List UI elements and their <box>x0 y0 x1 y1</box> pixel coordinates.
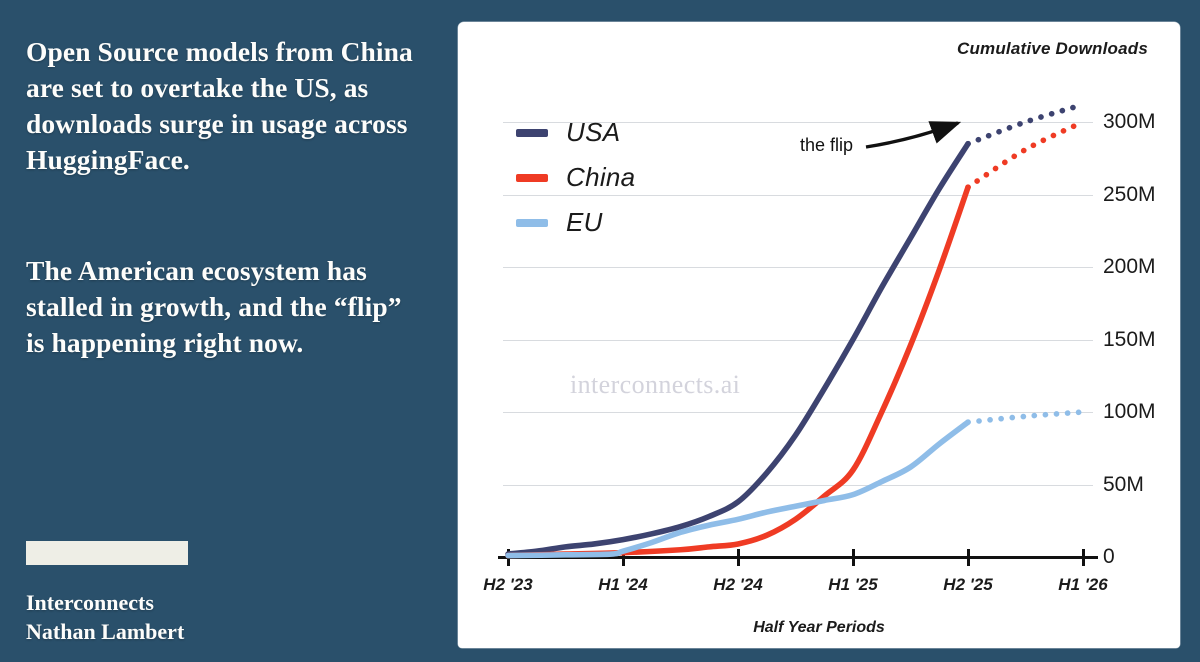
legend-item-eu[interactable]: EU <box>516 200 635 245</box>
legend: USAChinaEU <box>516 110 635 245</box>
legend-label: USA <box>566 117 620 148</box>
legend-label: China <box>566 162 635 193</box>
logo-placeholder <box>26 541 188 565</box>
byline-author: Nathan Lambert <box>26 617 426 646</box>
legend-swatch-china <box>516 174 548 182</box>
subhead-text: The American ecosystem has stalled in gr… <box>26 253 426 361</box>
legend-swatch-eu <box>516 219 548 227</box>
legend-label: EU <box>566 207 603 238</box>
chart-card: Cumulative Downloads interconnects.ai 05… <box>458 22 1180 648</box>
headline-text: Open Source models from China are set to… <box>26 34 426 178</box>
legend-swatch-usa <box>516 129 548 137</box>
flip-label: the flip <box>800 135 853 156</box>
legend-item-china[interactable]: China <box>516 155 635 200</box>
byline-brand: Interconnects <box>26 588 426 617</box>
editorial-panel: Open Source models from China are set to… <box>0 0 458 662</box>
legend-item-usa[interactable]: USA <box>516 110 635 155</box>
